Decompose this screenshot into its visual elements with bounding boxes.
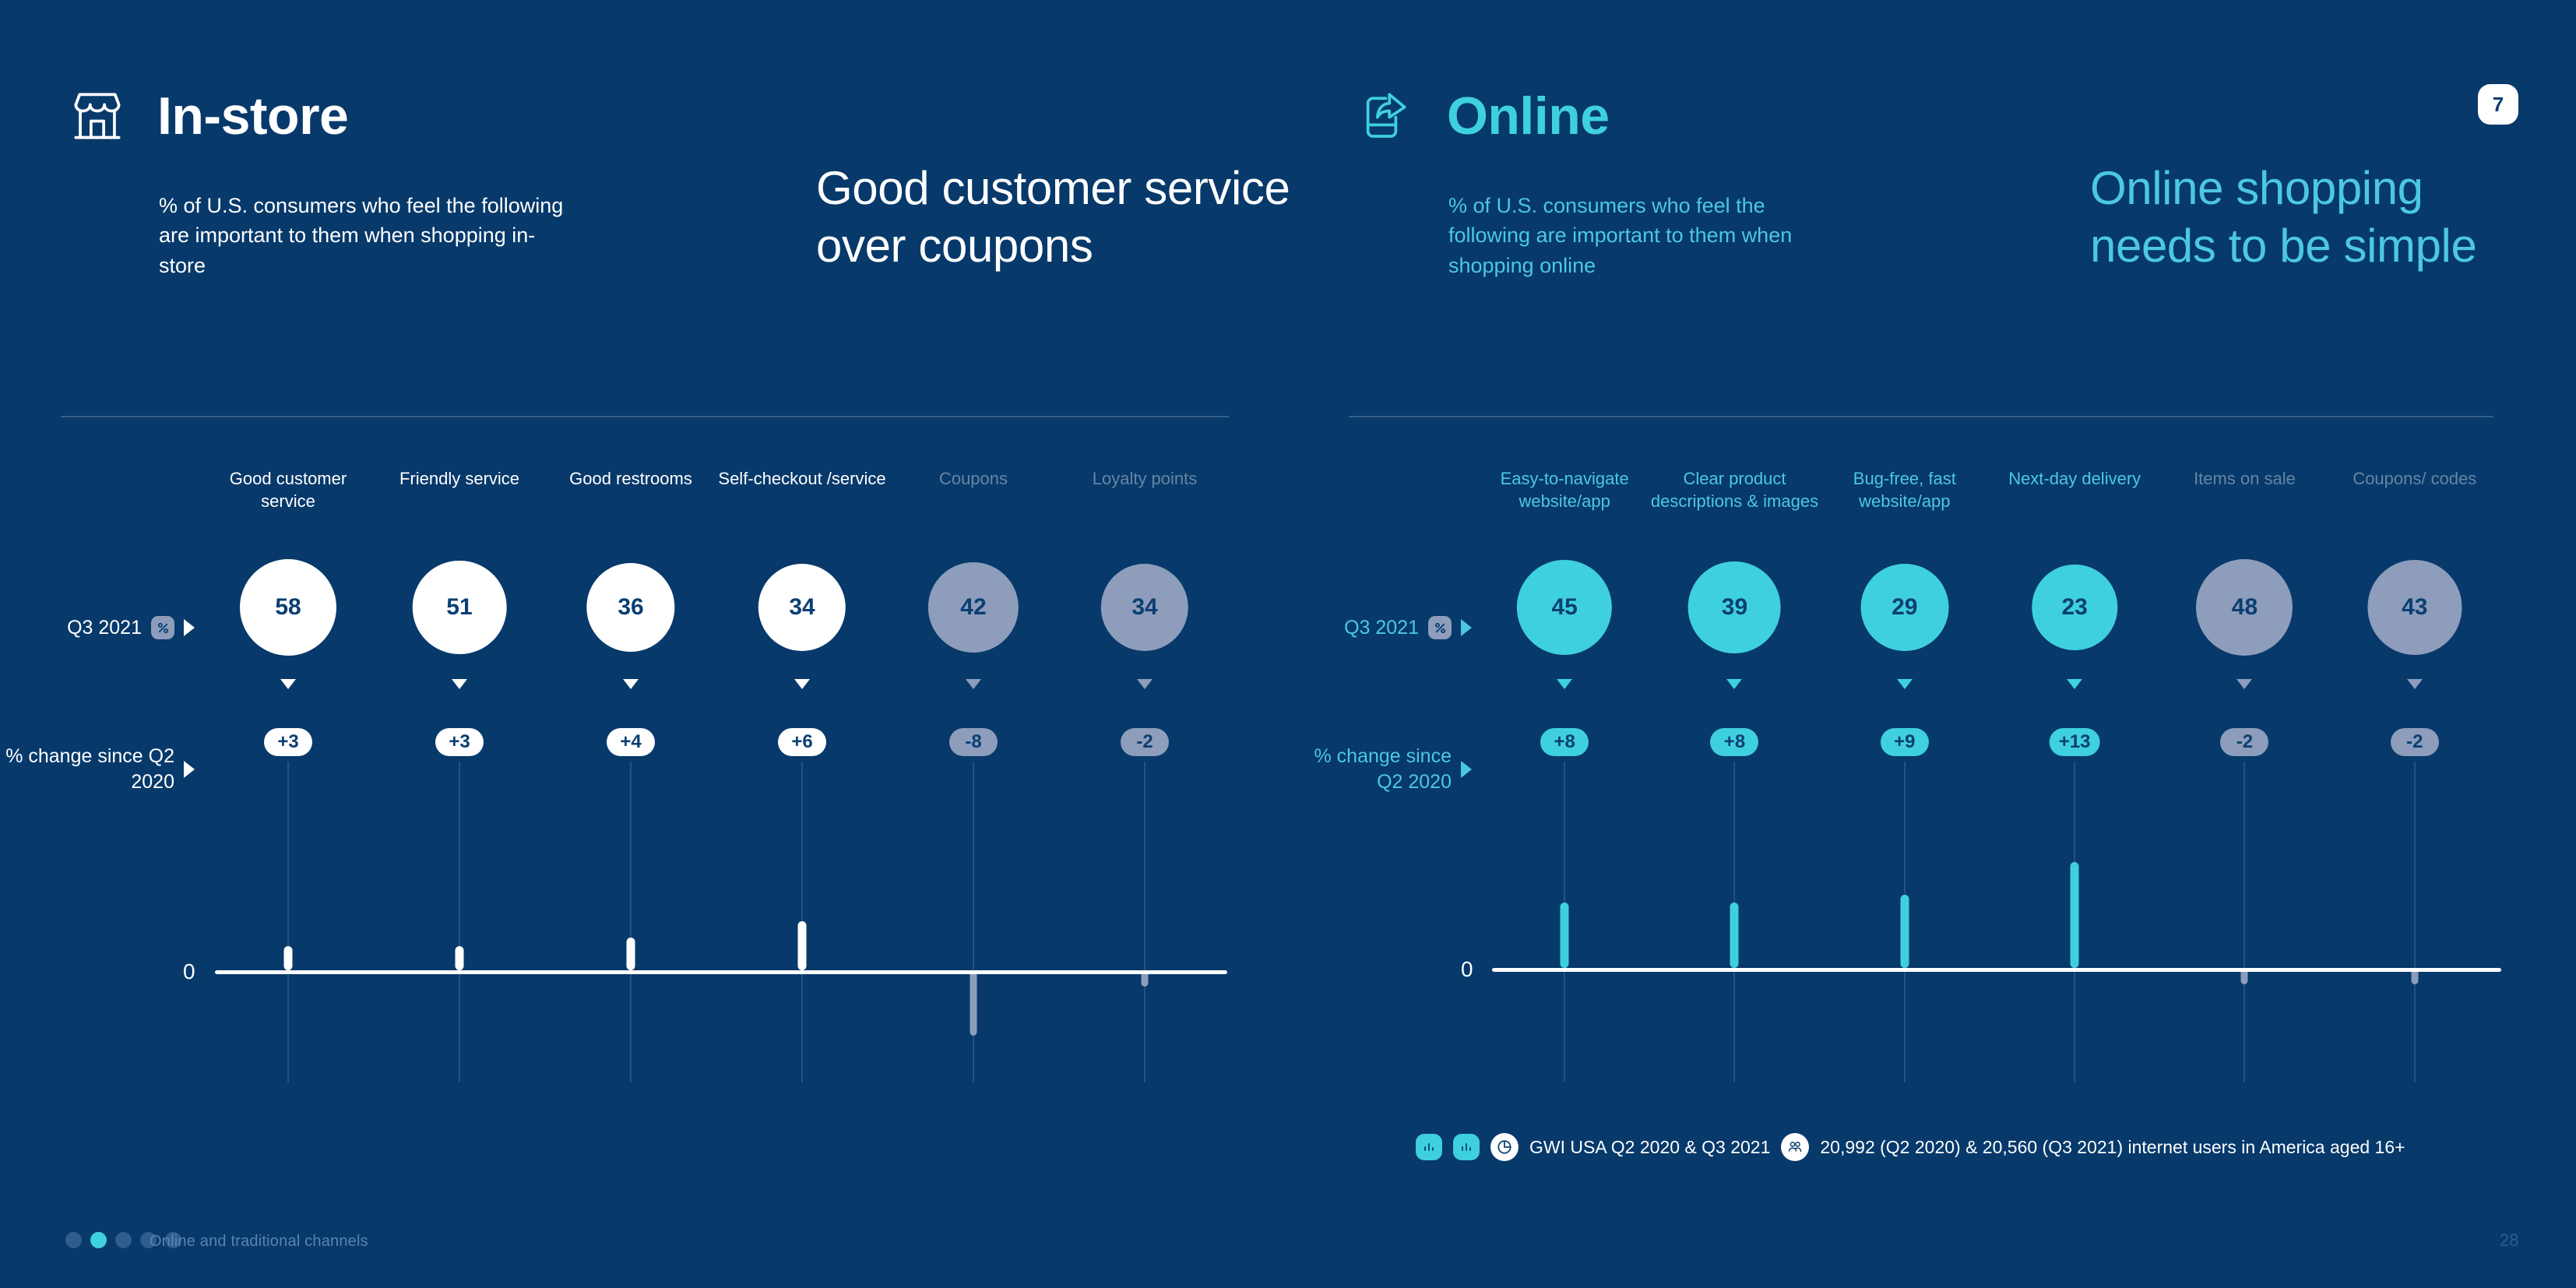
row-label-change-right: % change since Q2 2020: [1293, 744, 1472, 794]
percent-badge-icon: [151, 616, 174, 639]
change-pill: +6: [778, 728, 826, 756]
in-store-headline: Good customer service over coupons: [816, 160, 1314, 276]
column-category-label: Good restrooms: [545, 467, 716, 490]
column-category-label: Loyalty points: [1059, 467, 1230, 490]
row-label-q3-right: Q3 2021: [1293, 615, 1472, 641]
column-category-label: Clear product descriptions & images: [1649, 467, 1819, 512]
divider-right: [1349, 416, 2493, 417]
column-category-label: Good customer service: [202, 467, 374, 512]
column-category-label: Coupons: [888, 467, 1059, 490]
pie-chart-icon: [1490, 1133, 1519, 1161]
change-bar: [970, 970, 977, 1036]
value-bubble: 58: [240, 559, 336, 656]
slide-root: 7 In-store % of U.S. consumers who feel …: [0, 0, 2576, 1288]
change-pill: -8: [949, 728, 998, 756]
axis-zero-label-right: 0: [1461, 957, 1473, 982]
column-category-label: Coupons/ codes: [2330, 467, 2500, 490]
chart-column: Coupons/ codes43-2: [2330, 467, 2500, 1090]
change-bar: [627, 938, 635, 970]
change-bar: [2071, 862, 2079, 969]
chart-column: Clear product descriptions & images39+8: [1649, 467, 1819, 1090]
chart-column: Self-checkout /service34+6: [716, 467, 888, 1090]
change-bar: [798, 921, 807, 970]
row-label-q3-left: Q3 2021: [0, 615, 195, 641]
change-bar: [1561, 903, 1569, 968]
bar-chart-badge-icon-1: [1416, 1134, 1442, 1160]
caret-down-icon: [1137, 679, 1153, 689]
row-label-q3-right-text: Q3 2021: [1344, 615, 1419, 641]
in-store-header: In-store: [67, 86, 348, 146]
value-bubble: 45: [1517, 560, 1612, 655]
progress-dot-2[interactable]: [90, 1232, 107, 1248]
value-bubble: 34: [758, 564, 846, 651]
chart-column: Good restrooms36+4: [545, 467, 716, 1090]
online-subtitle: % of U.S. consumers who feel the followi…: [1448, 191, 1838, 280]
value-bubble: 39: [1688, 561, 1781, 654]
change-bar: [456, 946, 464, 971]
change-pill: -2: [2220, 728, 2268, 756]
caret-down-icon: [794, 679, 810, 689]
caret-down-icon: [280, 679, 296, 689]
value-bubble: 43: [2367, 560, 2462, 654]
percent-badge-icon-2: [1428, 616, 1452, 639]
axis-line-right: [1492, 968, 2501, 972]
value-bubble: 23: [2032, 565, 2117, 649]
column-category-label: Bug-free, fast website/app: [1820, 467, 1990, 512]
device-share-icon: [1357, 86, 1417, 146]
column-category-label: Next-day delivery: [1990, 467, 2159, 490]
source-text-1: GWI USA Q2 2020 & Q3 2021: [1529, 1137, 1770, 1158]
caret-down-icon: [452, 679, 467, 689]
caret-down-icon: [2067, 679, 2082, 689]
change-pill: +3: [264, 728, 312, 756]
chart-in-store: Good customer service58+3Friendly servic…: [202, 467, 1230, 1090]
page-number: 28: [2500, 1230, 2518, 1251]
value-bubble: 29: [1860, 564, 1948, 652]
column-gridline: [287, 762, 289, 1082]
source-text-2: 20,992 (Q2 2020) & 20,560 (Q3 2021) inte…: [1820, 1137, 2405, 1158]
progress-dot-3[interactable]: [115, 1232, 132, 1248]
change-pill: +9: [1881, 728, 1929, 756]
chart-column: Items on sale48-2: [2159, 467, 2329, 1090]
change-pill: +8: [1710, 728, 1758, 756]
axis-zero-label-left: 0: [183, 959, 195, 984]
storefront-icon: [67, 86, 128, 146]
column-gridline: [1144, 762, 1145, 1082]
panel-in-store: In-store % of U.S. consumers who feel th…: [0, 0, 1339, 1288]
change-bar: [1900, 895, 1909, 969]
change-pill: +13: [2050, 728, 2100, 756]
chart-column: Friendly service51+3: [374, 467, 545, 1090]
value-bubble: 34: [1101, 564, 1188, 651]
column-category-label: Friendly service: [374, 467, 545, 490]
progress-dot-1[interactable]: [65, 1232, 82, 1248]
change-pill: +3: [435, 728, 484, 756]
online-title: Online: [1447, 90, 1610, 143]
caret-down-icon: [2407, 679, 2423, 689]
audience-icon: [1781, 1133, 1809, 1161]
source-line: GWI USA Q2 2020 & Q3 2021 20,992 (Q2 202…: [1416, 1133, 2405, 1161]
column-gridline: [2243, 762, 2245, 1082]
chart-online: Easy-to-navigate website/app45+8Clear pr…: [1480, 467, 2500, 1090]
change-pill: +8: [1540, 728, 1589, 756]
in-store-subtitle: % of U.S. consumers who feel the followi…: [159, 191, 564, 280]
value-bubble: 48: [2196, 559, 2293, 656]
change-pill: +4: [607, 728, 655, 756]
online-header: Online: [1357, 86, 1610, 146]
row-arrow-icon-2: [184, 761, 195, 778]
online-headline: Online shopping needs to be simple: [2090, 160, 2526, 276]
row-label-change-right-text: % change since Q2 2020: [1293, 744, 1452, 794]
section-footnote: Online and traditional channels: [150, 1233, 368, 1251]
chart-column: Good customer service58+3: [202, 467, 374, 1090]
axis-line-left: [215, 970, 1227, 974]
caret-down-icon: [1726, 679, 1742, 689]
chart-column: Next-day delivery23+13: [1990, 467, 2159, 1090]
value-bubble: 36: [586, 563, 674, 651]
change-pill: -2: [1121, 728, 1169, 756]
column-gridline: [630, 762, 632, 1082]
column-category-label: Easy-to-navigate website/app: [1480, 467, 1649, 512]
row-label-change-left: % change since Q2 2020: [0, 744, 195, 794]
chart-column: Coupons42-8: [888, 467, 1059, 1090]
panel-online: Online % of U.S. consumers who feel the …: [1339, 0, 2576, 1288]
chart-column: Easy-to-navigate website/app45+8: [1480, 467, 1649, 1090]
caret-down-icon: [623, 679, 639, 689]
row-label-q3-left-text: Q3 2021: [67, 615, 142, 641]
divider-left: [61, 416, 1229, 417]
value-bubble: 51: [413, 561, 507, 655]
column-category-label: Self-checkout /service: [716, 467, 888, 490]
chart-column: Bug-free, fast website/app29+9: [1820, 467, 1990, 1090]
column-gridline: [459, 762, 460, 1082]
change-bar: [1730, 903, 1739, 968]
chart-column: Loyalty points34-2: [1059, 467, 1230, 1090]
row-arrow-icon: [184, 619, 195, 636]
row-arrow-icon-3: [1461, 619, 1472, 636]
in-store-title: In-store: [157, 90, 348, 143]
value-bubble: 42: [928, 562, 1019, 653]
caret-down-icon: [1897, 679, 1913, 689]
caret-down-icon: [2236, 679, 2252, 689]
bar-chart-badge-icon-2: [1453, 1134, 1480, 1160]
caret-down-icon: [1557, 679, 1572, 689]
change-pill: -2: [2391, 728, 2439, 756]
change-bar: [284, 946, 293, 971]
caret-down-icon: [966, 679, 981, 689]
row-arrow-icon-4: [1461, 761, 1472, 778]
column-gridline: [2414, 762, 2416, 1082]
row-label-change-left-text: % change since Q2 2020: [0, 744, 174, 794]
column-category-label: Items on sale: [2159, 467, 2329, 490]
